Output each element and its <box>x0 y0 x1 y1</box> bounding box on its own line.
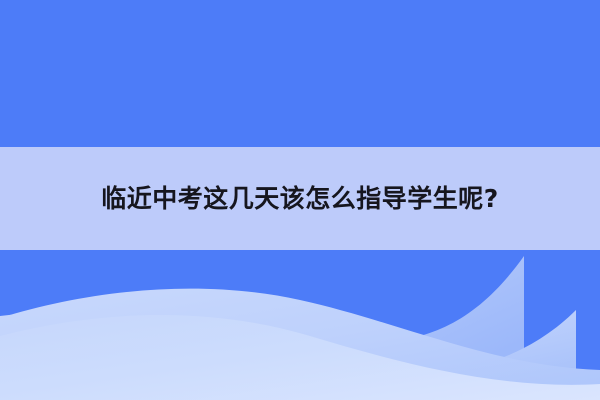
wave-decoration <box>0 250 600 400</box>
page-title: 临近中考这几天该怎么指导学生呢? <box>101 186 499 211</box>
headline-band: 临近中考这几天该怎么指导学生呢? <box>0 147 600 250</box>
wave-band <box>0 250 600 400</box>
top-blue-band <box>0 0 600 147</box>
poster-canvas: 临近中考这几天该怎么指导学生呢? <box>0 0 600 400</box>
